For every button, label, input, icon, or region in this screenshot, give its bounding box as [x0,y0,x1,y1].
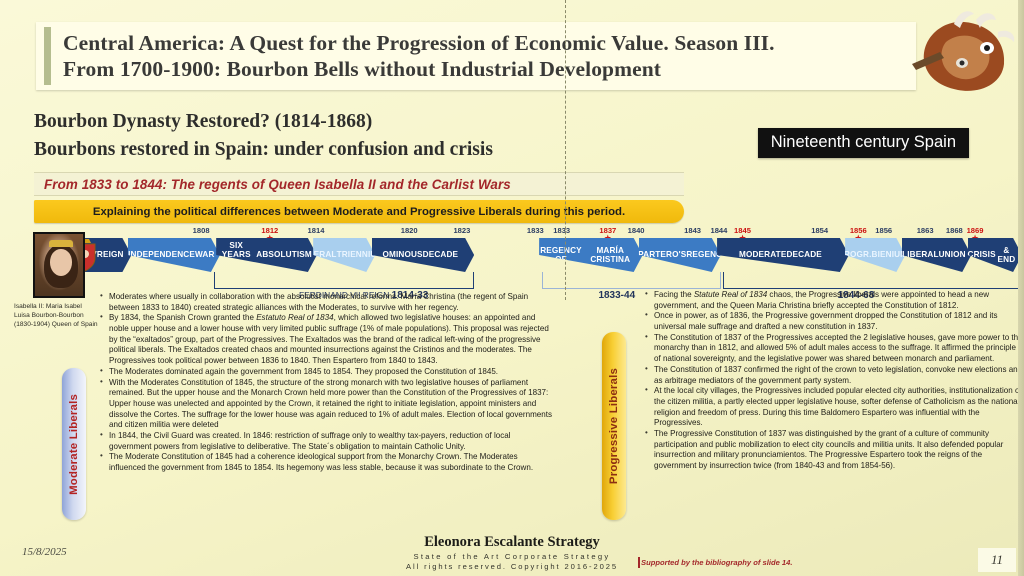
moderate-bullet-item: With the Moderates Constitution of 1845,… [100,378,555,431]
timeline-segment-label: INDEPENDENCE [128,250,195,259]
timeline-year-label: 1856 [875,226,892,235]
timeline-segment[interactable]: CRISIS& END [968,238,1023,272]
progressive-bullet-item: At the local city villages, the Progress… [645,386,1023,429]
left-bullet-list: Moderates where usually in collaboration… [100,292,555,474]
subheader-band: From 1833 to 1844: The regents of Queen … [34,172,684,196]
timeline-segment[interactable]: LIBERALTRIENNIUM [313,238,375,272]
timeline-segment-label: CRISIS [968,250,996,259]
timeline-segment-label: MODERATE [739,250,786,259]
timeline-segment-label: OMINOUS [383,250,423,259]
footer-bibliography-note: Supported by the bibliography of slide 1… [641,558,792,567]
progressive-bullet-item: The Constitution of 1837 confirmed the r… [645,365,1023,386]
timeline-year-label: 1840 [628,226,645,235]
timeline-year-label: 1844 [710,226,727,235]
moderate-bullet-item: In 1844, the Civil Guard was created. In… [100,431,555,452]
slide-title-bar: Central America: A Quest for the Progres… [36,22,916,90]
timeline-year-label: 1854 [811,226,828,235]
timeline-segment[interactable]: MODERATEDECADE [717,238,849,272]
timeline-period-bracket [723,272,1024,289]
timeline-segment[interactable]: PROGR.BIENIUM [845,238,905,272]
timeline-segment[interactable]: LIBERALUNION [902,238,972,272]
moderate-bullet-item: The Moderate Constitution of 1845 had a … [100,452,555,473]
timeline-segment[interactable]: REGENCY OFMARÍA CRISTINA [539,238,643,272]
progressive-bullet-item: Once in power, as of 1836, the Progressi… [645,311,1023,332]
timeline-segment-label: & END [996,246,1017,265]
timeline-vertical-divider [565,0,566,300]
timeline-year-label: 1814 [308,226,325,235]
timeline-segment-label: WAR [195,250,215,259]
progressive-bullet-item: The Progressive Constitution of 1837 was… [645,429,1023,472]
portrait-face [50,249,72,276]
timeline-segment[interactable]: OMINOUSDECADE [372,238,475,272]
timeline-year-label: 1823 [453,226,470,235]
timeline: 18081812★181418201823183318331837★184018… [26,226,1024,296]
timeline-segment-label: UNION [939,250,966,259]
page-number: 11 [978,548,1016,572]
moderate-bullet-item: Moderates where usually in collaboration… [100,292,555,313]
moderate-bullet-item: The Moderates dominated again the govern… [100,367,555,378]
moderate-liberals-text-column: Moderates where usually in collaboration… [100,292,555,474]
moderate-bullet-item: By 1834, the Spanish Crown granted the E… [100,313,555,366]
crown-icon [49,240,73,247]
explanation-text: Explaining the political differences bet… [93,206,625,218]
timeline-year-label: 1820 [401,226,418,235]
label-progressive-liberals-text: Progressive Liberals [608,368,620,484]
timeline-year-label: 1833 [553,226,570,235]
label-moderate-liberals: Moderate Liberals [62,368,86,520]
timeline-segment-label: REIGN [97,250,124,259]
timeline-segment[interactable]: INDEPENDENCEWAR [128,238,220,272]
heading-line-1: Bourbon Dynasty Restored? (1814-1868) [34,108,754,136]
portrait-caption: Isabella II: Maria Isabel Luisa Bourbon-… [14,302,98,329]
timeline-segment-label: DECADE [423,250,458,259]
timeline-segment[interactable]: ESPARTERO'SREGENCY [639,238,721,272]
timeline-segment-label: LIBERAL [902,250,939,259]
right-edge-strip [1018,0,1024,576]
timeline-year-label: 1808 [193,226,210,235]
timeline-year-label: 1843 [684,226,701,235]
timeline-period-bracket [214,272,474,289]
timeline-segment-label: MARÍA CRISTINA [583,246,638,265]
brand-name: Eleonora Escalante Strategy [302,534,722,551]
title-accent-bar [44,27,51,85]
timeline-year-label: 1833 [527,226,544,235]
timeline-segment-label: ABSOLUTISM [256,250,312,259]
timeline-segment-label: DECADE [786,250,821,259]
timeline-segment-label: SIX YEARS OF [216,241,256,269]
era-badge: Nineteenth century Spain [758,128,969,158]
progressive-bullet-item: Facing the Statute Real of 1834 chaos, t… [645,290,1023,311]
timeline-year-label: 1863 [917,226,934,235]
label-moderate-liberals-text: Moderate Liberals [68,394,80,495]
timeline-period-label: 1833-44 [598,290,635,301]
progressive-liberals-text-column: Facing the Statute Real of 1834 chaos, t… [645,290,1023,472]
explanation-bar: Explaining the political differences bet… [34,200,684,223]
section-headings: Bourbon Dynasty Restored? (1814-1868) Bo… [34,108,754,163]
timeline-segment-label: REGENCY OF [539,246,583,265]
timeline-period-bracket [542,272,721,289]
subheader-text: From 1833 to 1844: The regents of Queen … [34,177,511,192]
label-progressive-liberals: Progressive Liberals [602,332,626,520]
heading-line-2: Bourbons restored in Spain: under confus… [34,136,754,164]
progressive-bullet-item: The Constitution of 1837 of the Progress… [645,333,1023,365]
page-title: Central America: A Quest for the Progres… [63,30,775,82]
timeline-segment[interactable]: SIX YEARS OFABSOLUTISM [216,238,317,272]
footer-date: 15/8/2025 [22,546,67,558]
timeline-year-label: 1868 [946,226,963,235]
right-bullet-list: Facing the Statute Real of 1834 chaos, t… [645,290,1023,472]
slide-canvas: Central America: A Quest for the Progres… [0,0,1024,576]
portrait-isabella-ii [33,232,85,298]
